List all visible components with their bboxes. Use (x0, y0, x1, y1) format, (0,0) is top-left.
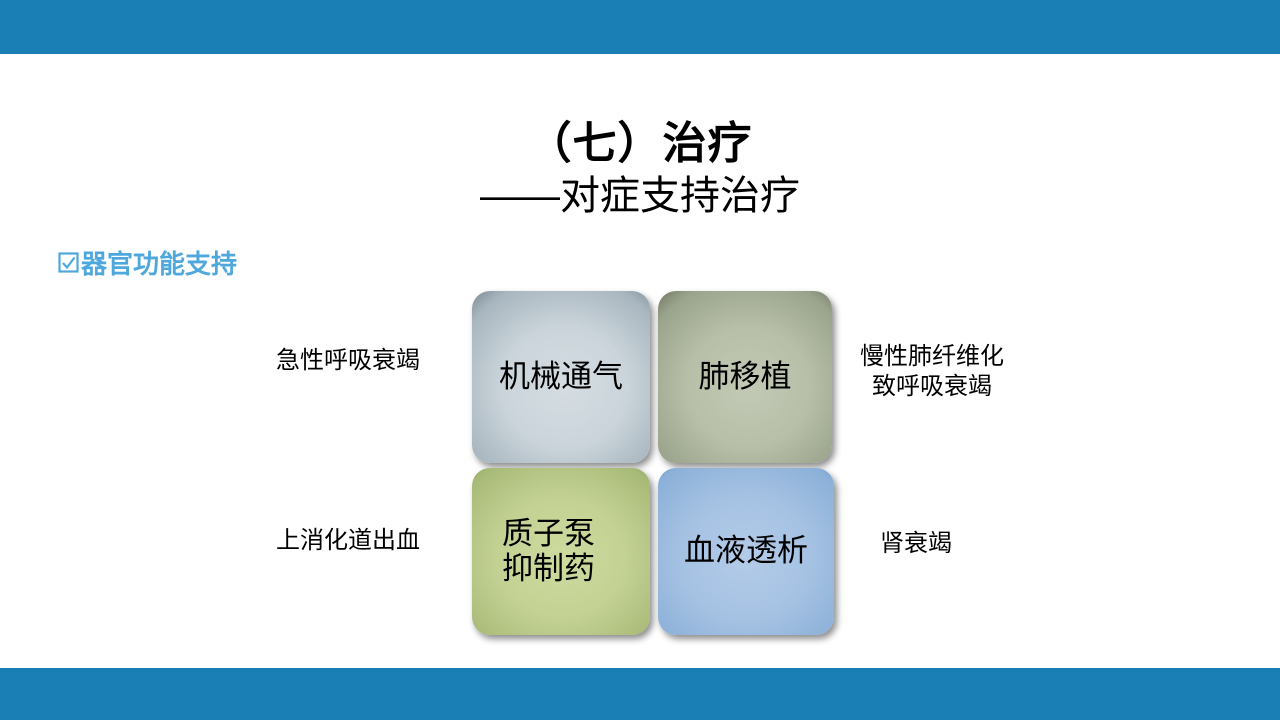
label-upper-gi-bleeding: 上消化道出血 (276, 526, 420, 556)
page-title: （七）治疗 (0, 118, 1280, 170)
label-chronic-pulmonary-fibrosis: 慢性肺纤维化 致呼吸衰竭 (860, 342, 1004, 402)
label-line-2: 致呼吸衰竭 (860, 372, 1004, 402)
label-renal-failure: 肾衰竭 (880, 529, 952, 559)
label-line-1: 慢性肺纤维化 (860, 342, 1004, 372)
bottom-accent-bar (0, 668, 1280, 720)
slide-title-block: （七）治疗 ——对症支持治疗 (0, 118, 1280, 220)
box-proton-pump-inhibitor[interactable]: 质子泵 抑制药 (472, 468, 650, 635)
label-acute-respiratory-failure: 急性呼吸衰竭 (276, 346, 420, 376)
checkbox-checked-icon (58, 252, 79, 273)
bullet-heading-label: 器官功能支持 (81, 244, 237, 281)
box-label-multiline: 质子泵 抑制药 (502, 517, 650, 586)
box-label: 肺移植 (658, 360, 832, 395)
bullet-heading-organ-support: 器官功能支持 (58, 244, 237, 281)
box-mechanical-ventilation[interactable]: 机械通气 (472, 291, 650, 463)
box-lung-transplant[interactable]: 肺移植 (658, 291, 832, 463)
box-label: 血液透析 (658, 534, 834, 569)
organ-support-diagram: 急性呼吸衰竭 慢性肺纤维化 致呼吸衰竭 上消化道出血 肾衰竭 机械通气 肺移植 … (0, 286, 1280, 646)
page-subtitle: ——对症支持治疗 (0, 172, 1280, 220)
box-label-line-1: 质子泵 (502, 517, 650, 552)
box-label: 机械通气 (472, 360, 650, 395)
box-hemodialysis[interactable]: 血液透析 (658, 468, 834, 635)
top-accent-bar (0, 0, 1280, 54)
box-label-line-2: 抑制药 (502, 552, 650, 587)
